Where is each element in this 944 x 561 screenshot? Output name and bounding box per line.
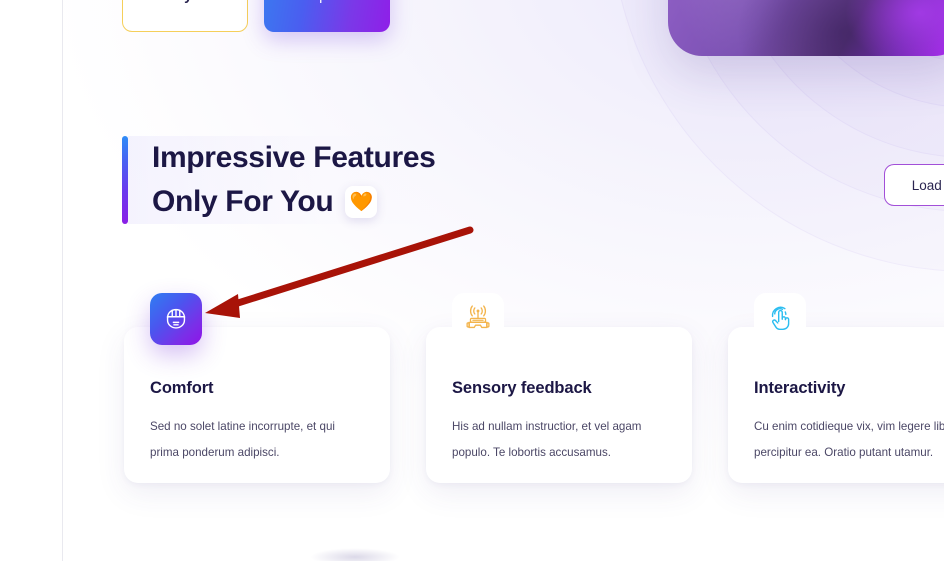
- heading-line-1-text: Impressive Features: [152, 136, 436, 180]
- feature-card-body-line-2: percipitur ea. Oratio putant utamur.: [754, 440, 944, 466]
- load-more-button[interactable]: Load more: [884, 164, 944, 206]
- feature-card-title: Interactivity: [754, 379, 944, 398]
- feature-card-title: Comfort: [150, 379, 360, 398]
- feature-card-body-line-2: prima ponderum adipisci.: [150, 440, 365, 466]
- tap-hand-icon: [754, 293, 806, 345]
- section-heading: Impressive Features Only For You 🧡: [122, 136, 436, 224]
- heading-line-2: Only For You 🧡: [152, 180, 436, 224]
- grab-yours-button[interactable]: Grab yours: [122, 0, 248, 32]
- purple-hoodie-photo: [668, 0, 944, 56]
- feature-card-body: His ad nullam instructior, et vel agam p…: [452, 414, 667, 466]
- feature-card-comfort[interactable]: Comfort Sed no solet latine incorrupte, …: [124, 327, 390, 483]
- cta-button-row: Grab yours Explore: [122, 0, 390, 32]
- vertical-divider: [62, 0, 63, 561]
- next-row-shadow: [310, 548, 400, 561]
- feature-card-body-line-1: Cu enim cotidieque vix, vim legere liber: [754, 414, 944, 440]
- feature-card-sensory-feedback[interactable]: Sensory feedback His ad nullam instructi…: [426, 327, 692, 483]
- hero-product-image: [668, 0, 944, 56]
- heading-text-wrap: Impressive Features Only For You 🧡: [128, 136, 436, 224]
- feature-card-body-line-1: His ad nullam instructior, et vel agam: [452, 414, 667, 440]
- feature-card-interactivity[interactable]: Interactivity Cu enim cotidieque vix, vi…: [728, 327, 944, 483]
- orange-heart-emoji: 🧡: [345, 186, 377, 218]
- feature-card-list: Comfort Sed no solet latine incorrupte, …: [124, 327, 944, 483]
- feature-card-body: Sed no solet latine incorrupte, et qui p…: [150, 414, 365, 466]
- left-gutter: [0, 0, 62, 561]
- vr-signal-icon: [452, 293, 504, 345]
- feature-card-body: Cu enim cotidieque vix, vim legere liber…: [754, 414, 944, 466]
- page-root: Grab yours Explore Impressive Features O…: [0, 0, 944, 561]
- vr-headset-icon: [150, 293, 202, 345]
- feature-card-title: Sensory feedback: [452, 379, 662, 398]
- heading-line-2-text: Only For You: [152, 180, 333, 224]
- feature-card-body-line-2: populo. Te lobortis accusamus.: [452, 440, 667, 466]
- heading-line-1: Impressive Features: [152, 136, 436, 180]
- feature-card-body-line-1: Sed no solet latine incorrupte, et qui: [150, 414, 365, 440]
- explore-button[interactable]: Explore: [264, 0, 390, 32]
